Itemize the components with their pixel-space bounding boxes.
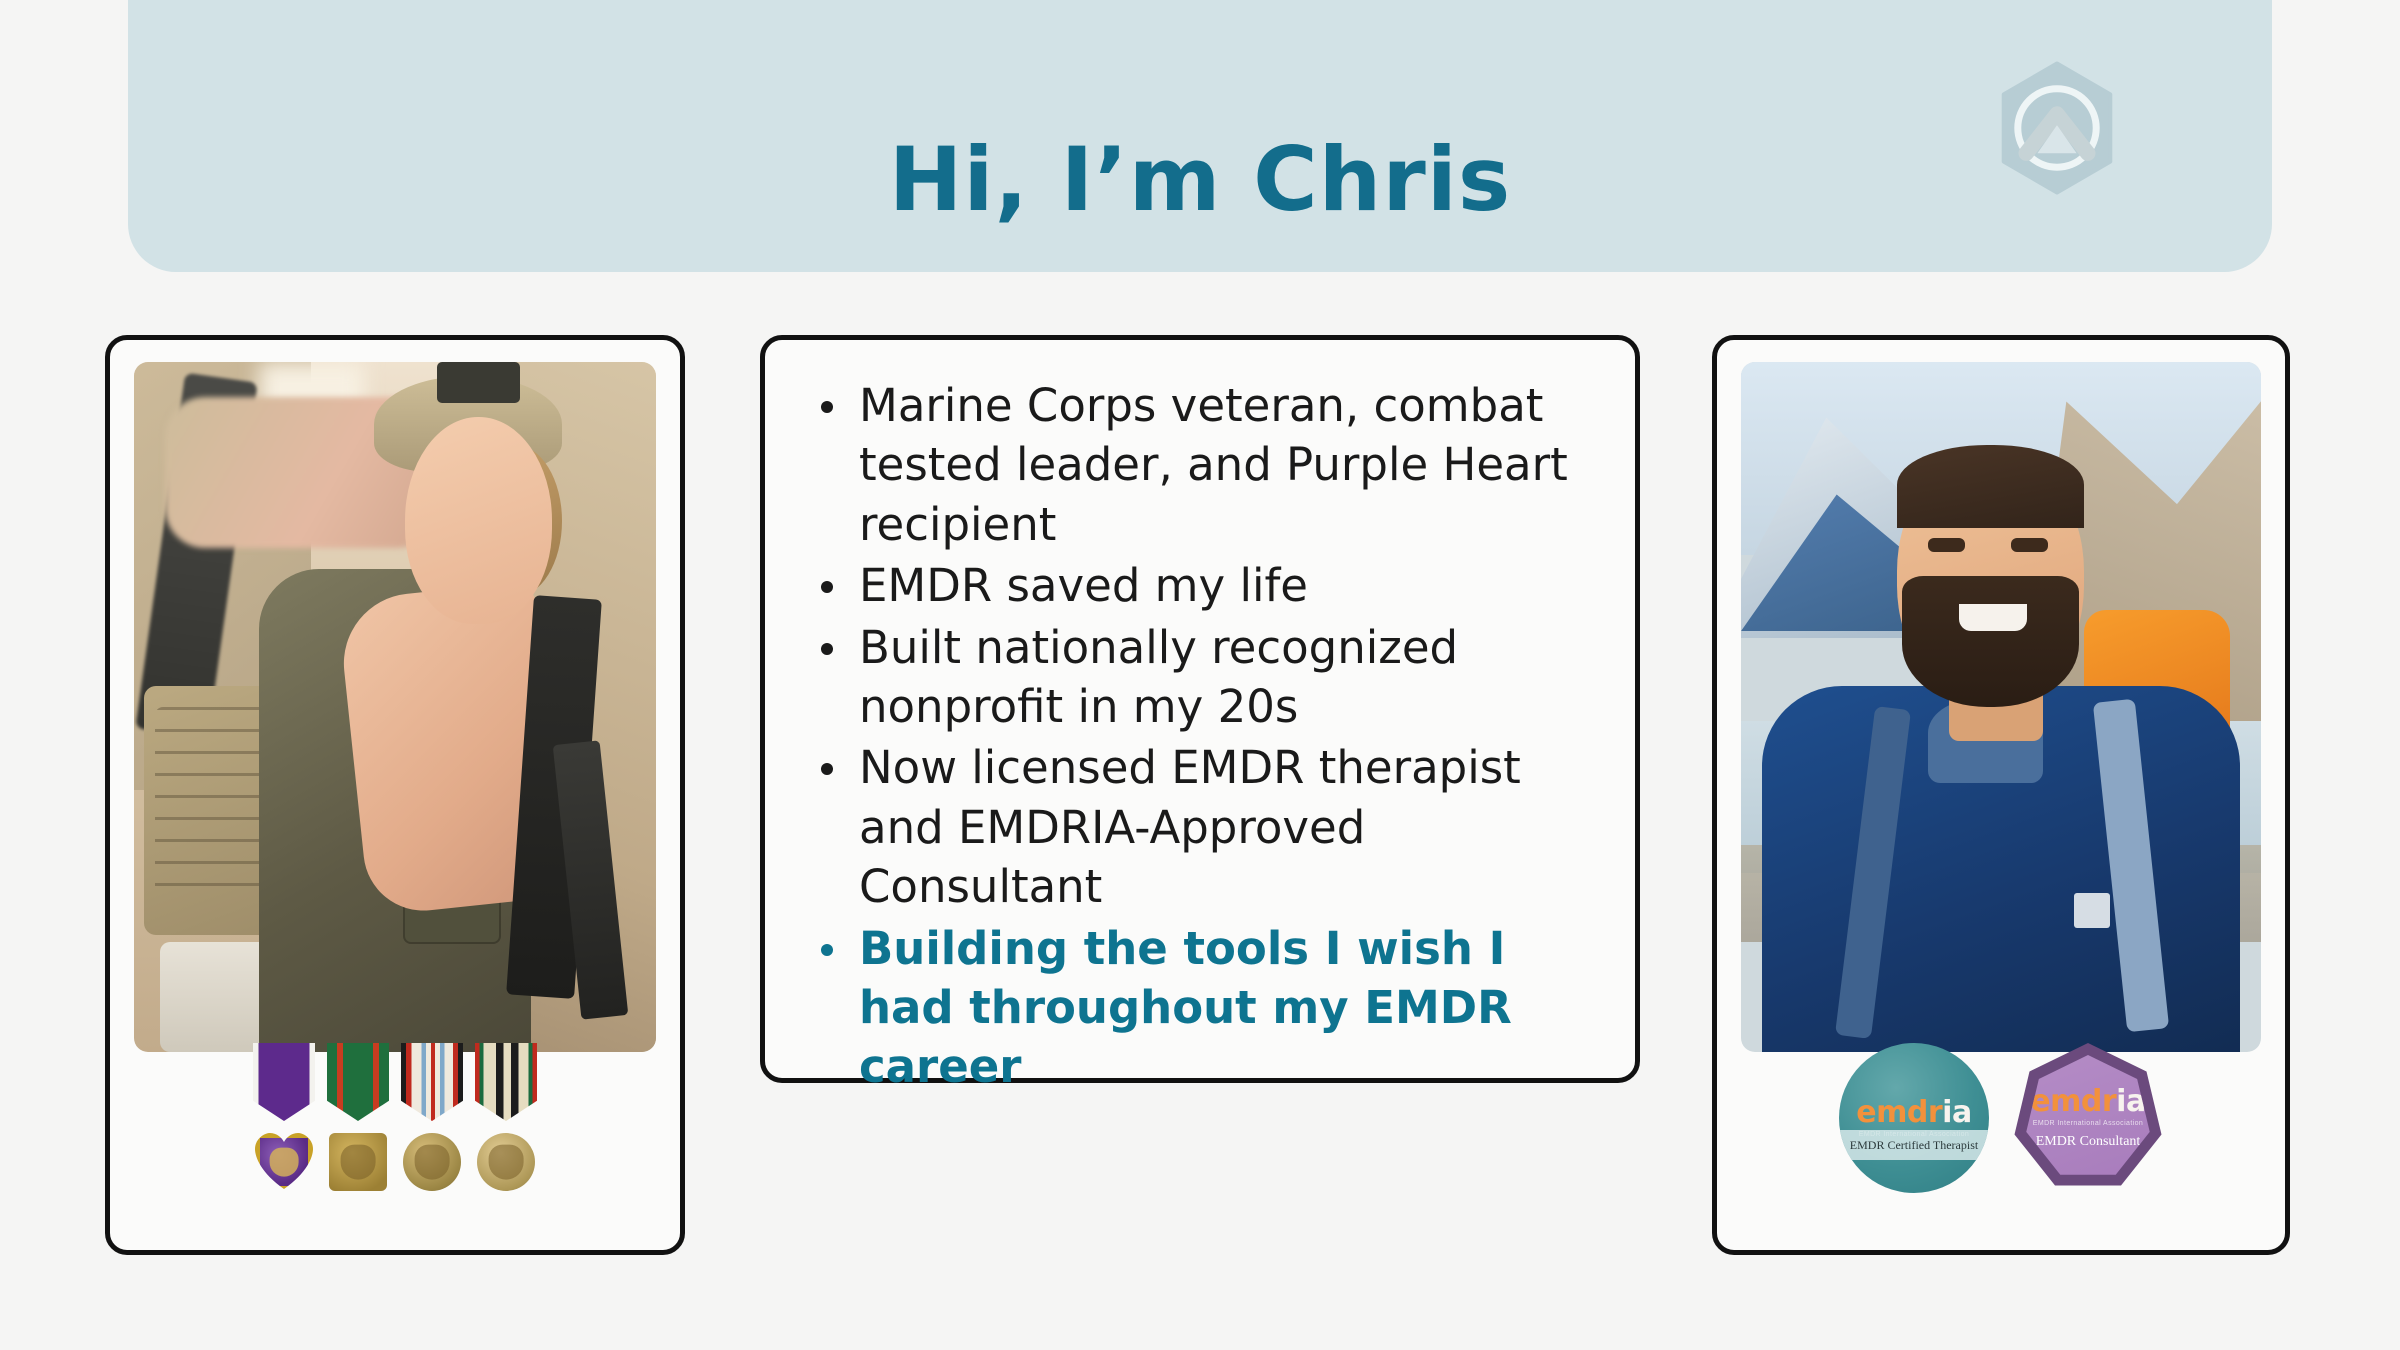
badge-label: EMDR Consultant — [2036, 1134, 2141, 1150]
medal-ribbon — [401, 1043, 463, 1121]
medal-purple-heart — [247, 1043, 321, 1193]
medal-navy-marine-corps-achievement — [321, 1043, 395, 1193]
badge-heptagon-shape: emdria EMDR International Association EM… — [2013, 1043, 2163, 1193]
medal-emblem — [270, 1148, 299, 1177]
card-military-photo — [105, 335, 685, 1255]
bio-bullet-list: Marine Corps veteran, combat tested lead… — [813, 376, 1595, 1099]
card-portrait-photo: emdria EMDR International Association EM… — [1712, 335, 2290, 1255]
emdria-subtitle: EMDR International Association — [2033, 1120, 2143, 1127]
badge-emdr-consultant: emdria EMDR International Association EM… — [2013, 1043, 2163, 1193]
emdria-wordmark: emdria — [1856, 1098, 1971, 1128]
medal-ribbon — [327, 1043, 389, 1121]
badge-label-band: EMDR Certified Therapist — [1839, 1130, 1989, 1160]
medal-emblem — [415, 1145, 450, 1180]
cards-row: Marine Corps veteran, combat tested lead… — [0, 335, 2400, 1260]
photo-marine-scene — [134, 362, 656, 1052]
medal-emblem — [341, 1145, 376, 1180]
list-item: EMDR saved my life — [813, 556, 1595, 615]
list-item: Marine Corps veteran, combat tested lead… — [813, 376, 1595, 554]
emdria-wordmark: emdria — [2030, 1087, 2145, 1117]
photo-marine-in-desert — [134, 362, 656, 1052]
bullet-text: EMDR saved my life — [859, 559, 1308, 612]
card-left-inner — [134, 362, 656, 1228]
emdria-wordmark-tail: ia — [1942, 1095, 1972, 1130]
scene-eye-left — [1928, 538, 1964, 552]
medal-afghanistan-campaign — [395, 1043, 469, 1193]
emdria-badges-row: emdria EMDR International Association EM… — [1765, 1030, 2237, 1206]
scene-strap-buckle — [2074, 893, 2110, 928]
bullet-text: Now licensed EMDR therapist and EMDRIA-A… — [859, 741, 1521, 913]
list-item-highlighted: Building the tools I wish I had througho… — [813, 919, 1595, 1097]
bullet-text: Built nationally recognized nonprofit in… — [859, 621, 1458, 733]
hexagon-chevron-logo-icon — [1987, 58, 2127, 198]
list-item: Now licensed EMDR therapist and EMDRIA-A… — [813, 738, 1595, 916]
medal-iraq-campaign — [469, 1043, 543, 1193]
medal-disc — [329, 1133, 387, 1191]
scene-beard — [1902, 576, 2079, 707]
scene-eye-right — [2011, 538, 2047, 552]
badge-heptagon-inner: emdria EMDR International Association EM… — [2025, 1055, 2151, 1181]
scene-smile — [1959, 604, 2027, 632]
medal-ribbon — [475, 1043, 537, 1121]
scene-goggles — [437, 362, 521, 403]
badge-emdr-certified-therapist: emdria EMDR International Association EM… — [1839, 1043, 1989, 1193]
medal-ribbon — [253, 1043, 315, 1121]
photo-portrait-scene — [1741, 362, 2261, 1052]
badge-circle-shape: emdria EMDR International Association EM… — [1839, 1043, 1989, 1193]
medal-emblem — [489, 1145, 524, 1180]
page-title: Hi, I’m Chris — [889, 136, 1512, 224]
card-right-inner: emdria EMDR International Association EM… — [1741, 362, 2261, 1228]
badge-label: EMDR Certified Therapist — [1850, 1138, 1978, 1153]
scene-face — [405, 417, 551, 624]
emdria-wordmark-tail: ia — [2116, 1084, 2146, 1119]
photo-portrait-hiker — [1741, 362, 2261, 1052]
medal-disc — [255, 1133, 313, 1191]
bullet-text: Marine Corps veteran, combat tested lead… — [859, 379, 1568, 551]
scene-hair — [1897, 445, 2084, 528]
card-bio-bullets: Marine Corps veteran, combat tested lead… — [760, 335, 1640, 1083]
bullet-text: Building the tools I wish I had througho… — [859, 922, 1512, 1094]
header-banner: Hi, I’m Chris — [128, 0, 2272, 272]
list-item: Built nationally recognized nonprofit in… — [813, 618, 1595, 737]
medals-row — [158, 1030, 632, 1206]
medal-disc — [477, 1133, 535, 1191]
medal-disc — [403, 1133, 461, 1191]
